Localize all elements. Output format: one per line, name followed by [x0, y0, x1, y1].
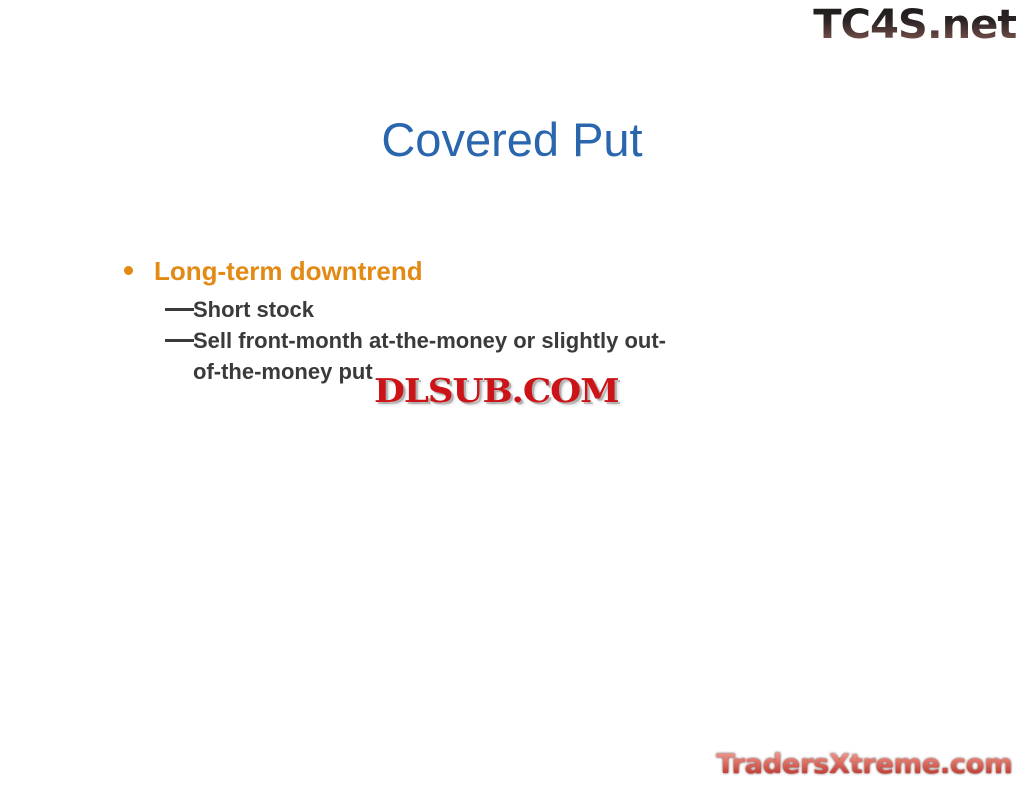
bullet-level1-label: Long-term downtrend: [154, 256, 423, 286]
tradersxtreme-brand-logo: TradersXtreme.com: [716, 749, 1012, 781]
tc4s-brand-logo: TC4S.net: [813, 2, 1016, 48]
bullet-level2-label: Short stock: [193, 297, 314, 322]
slide-body: Long-term downtrend Short stock Sell fro…: [118, 252, 818, 387]
dlsub-watermark: DLSUB.COM: [374, 372, 618, 410]
bullet-level2-item: Short stock: [118, 294, 683, 325]
em-dash-icon: [165, 339, 194, 342]
bullet-level1-item: Long-term downtrend: [118, 252, 818, 290]
bullet-dot-icon: [124, 266, 133, 275]
page-title: Covered Put: [0, 112, 1024, 168]
slide-canvas: TC4S.net Covered Put Long-term downtrend…: [0, 0, 1024, 791]
em-dash-icon: [165, 308, 194, 311]
